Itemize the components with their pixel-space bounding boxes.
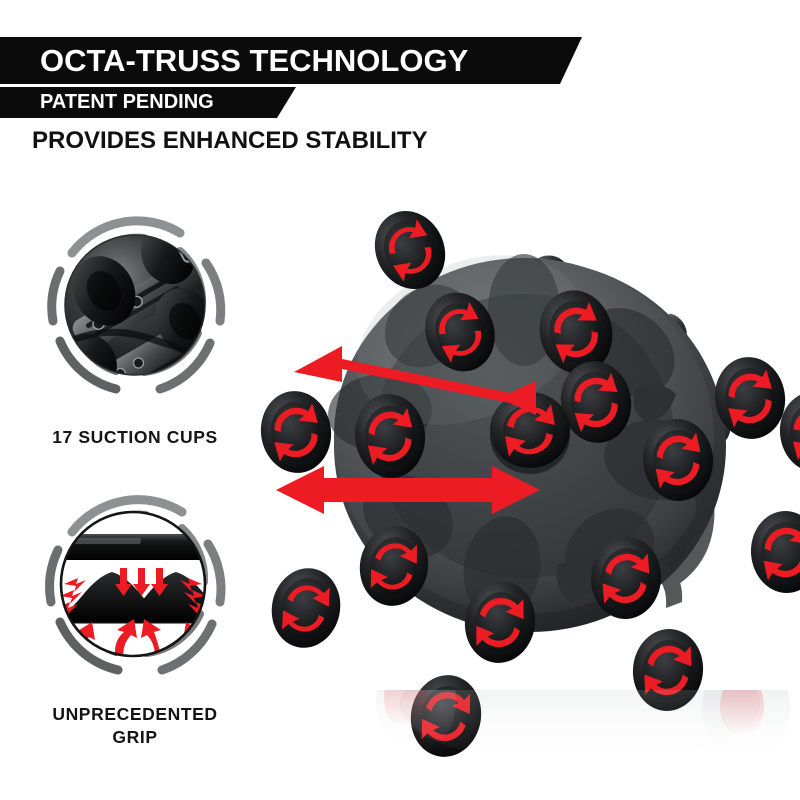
suction-cup-highlighted-outer (258, 387, 336, 478)
feature-badge-grip: UNPRECEDENTED GRIP (10, 472, 260, 702)
infographic-canvas: OCTA-TRUSS TECHNOLOGY PATENT PENDING PRO… (0, 0, 800, 800)
badge-suction-cups-graphic (20, 193, 250, 423)
product-image-octa-truss-mount (258, 140, 800, 790)
patent-pending-banner: PATENT PENDING (0, 87, 296, 118)
feature-caption-suction-cups: 17 SUCTION CUPS (10, 426, 260, 449)
pressure-arrow-down (115, 568, 168, 596)
header-subtitle: PATENT PENDING (40, 91, 214, 114)
suction-cup (629, 626, 707, 715)
feature-caption-grip-line1: UNPRECEDENTED (10, 703, 260, 726)
feature-badge-suction-cups: 17 SUCTION CUPS (10, 193, 260, 423)
badge-grip-graphic (20, 472, 250, 702)
feature-caption-grip: UNPRECEDENTED GRIP (10, 703, 260, 749)
suction-cup (264, 562, 347, 654)
header-title-banner: OCTA-TRUSS TECHNOLOGY (0, 37, 582, 84)
header-title: OCTA-TRUSS TECHNOLOGY (40, 43, 468, 79)
suction-cup (748, 509, 800, 596)
feature-caption-grip-line2: GRIP (10, 726, 260, 749)
suction-cup (404, 670, 487, 763)
